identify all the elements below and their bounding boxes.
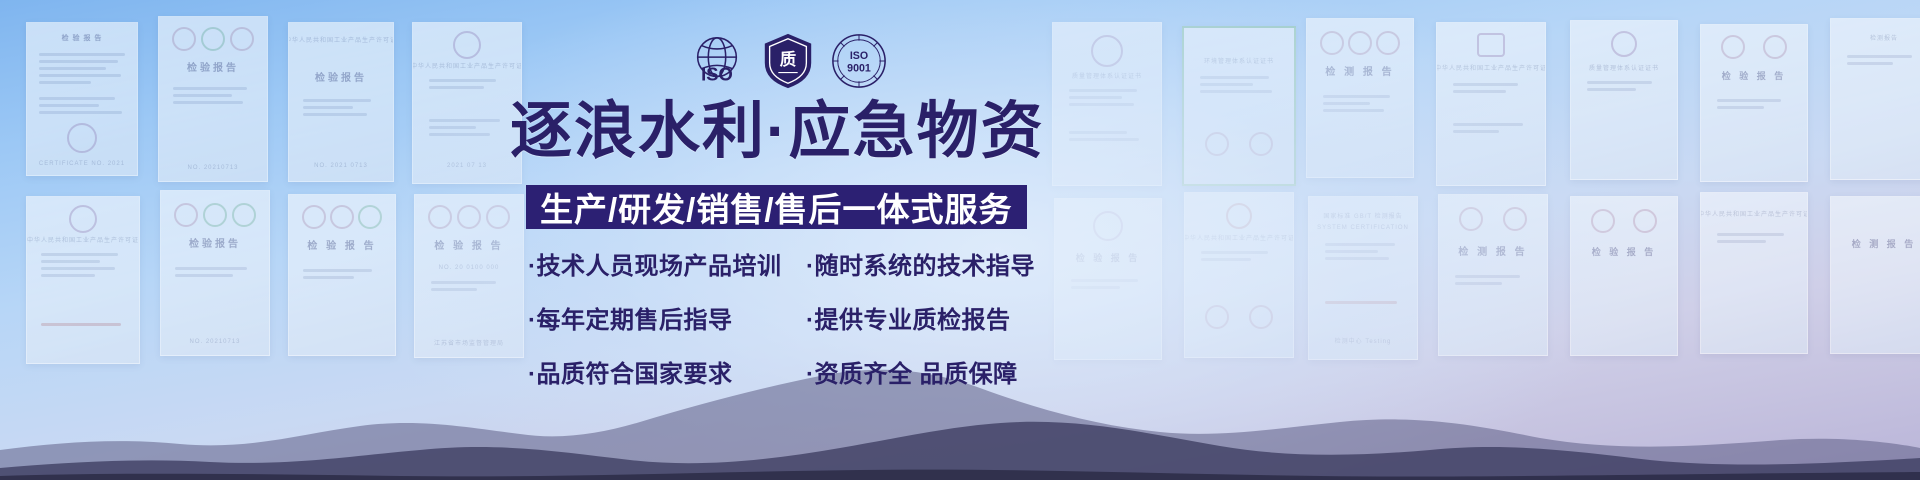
certificate-thumb: 中华人民共和国工业产品生产许可证 2021 07 13 xyxy=(412,22,522,184)
certificate-thumb: 检 测 报 告 xyxy=(1306,18,1414,178)
certificate-thumb: 质量管理体系认证证书 xyxy=(1570,20,1678,180)
promo-banner: 检 验 报 告 CERTIFICATE NO. 2021 检验报告 NO. 20… xyxy=(0,0,1920,480)
feature-item: ·提供专业质检报告 xyxy=(806,300,1056,335)
certificate-thumb: 中华人民共和国工业产品生产许可证 检验报告 NO. 2021 0713 xyxy=(288,22,394,182)
quality-inspection-badge: 质 xyxy=(759,32,817,90)
feature-item: ·品质符合国家要求 xyxy=(528,354,806,389)
subtitle-bar: 生产/研发/销售/售后一体式服务 xyxy=(526,185,1027,229)
feature-item: ·每年定期售后指导 xyxy=(528,300,806,335)
seal-icon xyxy=(1477,33,1505,57)
certificate-thumb: 环境管理体系认证证书 xyxy=(1182,26,1296,186)
svg-text:9001: 9001 xyxy=(847,63,871,75)
feature-row: ·每年定期售后指导 ·提供专业质检报告 xyxy=(528,300,1068,335)
certificate-thumb: 质量管理体系认证证书 xyxy=(1052,22,1162,186)
iso-9001-badge: ISO 9001 xyxy=(830,32,888,90)
feature-item: ·资质齐全 品质保障 xyxy=(806,354,1056,389)
certificate-thumb: 检验报告 NO. 20210713 xyxy=(158,16,268,182)
certificate-thumb: 检 验 报 告 CERTIFICATE NO. 2021 xyxy=(26,22,138,176)
feature-item: ·随时系统的技术指导 xyxy=(806,246,1056,281)
iso-badge: ISO xyxy=(688,32,746,90)
quality-badge-label: 质 xyxy=(780,50,796,69)
certificate-thumb: 中华人民共和国工业产品生产许可证 xyxy=(1436,22,1546,186)
feature-row: ·技术人员现场产品培训 ·随时系统的技术指导 xyxy=(528,246,1068,281)
svg-text:ISO: ISO xyxy=(850,50,868,62)
feature-row: ·品质符合国家要求 ·资质齐全 品质保障 xyxy=(528,354,1068,389)
certification-badges: ISO 质 ISO 9001 xyxy=(688,30,888,92)
feature-item: ·技术人员现场产品培训 xyxy=(528,246,806,281)
iso-badge-label: ISO xyxy=(701,63,733,84)
certificate-thumb: 检 验 报 告 xyxy=(1700,24,1808,182)
page-title: 逐浪水利·应急物资 xyxy=(510,101,1045,163)
certificate-thumb: 检测报告 xyxy=(1830,18,1920,180)
feature-list: ·技术人员现场产品培训 ·随时系统的技术指导 ·每年定期售后指导 ·提供专业质检… xyxy=(528,246,1068,408)
subtitle-text: 生产/研发/销售/售后一体式服务 xyxy=(540,183,1013,231)
